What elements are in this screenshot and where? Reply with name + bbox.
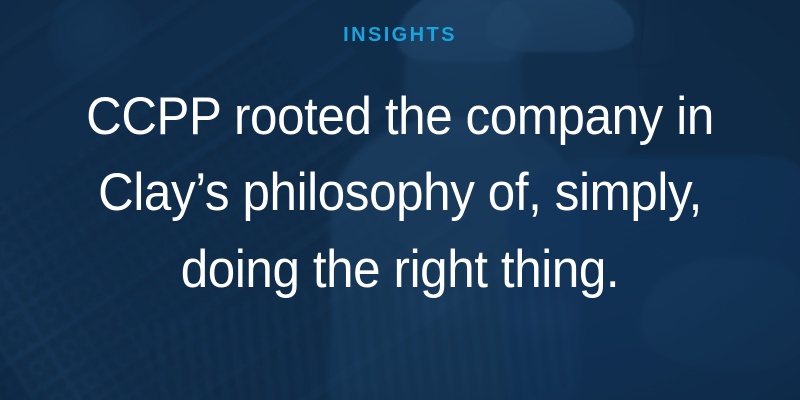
headline-line-1: CCPP rooted the company in: [75, 79, 726, 155]
headline-line-2: Clay’s philosophy of, simply,: [75, 155, 726, 231]
insights-quote-card: INSIGHTS CCPP rooted the company in Clay…: [0, 0, 800, 400]
headline-line-3: doing the right thing.: [75, 232, 726, 308]
card-content: INSIGHTS CCPP rooted the company in Clay…: [0, 0, 800, 400]
eyebrow-label: INSIGHTS: [343, 25, 457, 45]
headline-quote: CCPP rooted the company in Clay’s philos…: [75, 79, 726, 308]
